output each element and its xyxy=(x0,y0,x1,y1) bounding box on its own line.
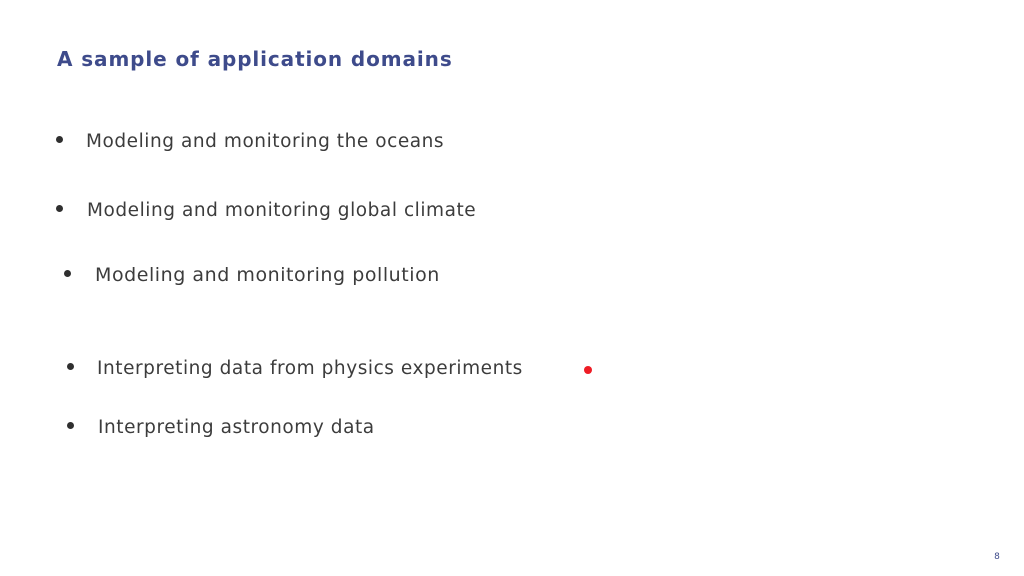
list-item-label: Modeling and monitoring the oceans xyxy=(86,131,444,152)
red-dot-marker-icon xyxy=(584,366,592,374)
bullet-dot-icon xyxy=(56,136,63,143)
page-number: 8 xyxy=(994,552,1000,562)
list-item-label: Interpreting astronomy data xyxy=(98,417,375,438)
bullet-dot-icon xyxy=(64,270,71,277)
list-item: Interpreting data from physics experimen… xyxy=(67,358,523,379)
list-item: Modeling and monitoring pollution xyxy=(64,264,440,286)
list-item-label: Modeling and monitoring global climate xyxy=(87,200,476,221)
bullet-dot-icon xyxy=(67,422,74,429)
bullet-dot-icon xyxy=(56,205,63,212)
list-item-label: Modeling and monitoring pollution xyxy=(95,264,440,286)
list-item-label: Interpreting data from physics experimen… xyxy=(97,358,523,379)
list-item: Interpreting astronomy data xyxy=(67,417,375,438)
slide-canvas: A sample of application domains Modeling… xyxy=(0,0,1024,576)
page-title: A sample of application domains xyxy=(57,47,453,71)
bullet-dot-icon xyxy=(67,363,74,370)
list-item: Modeling and monitoring the oceans xyxy=(56,131,444,152)
list-item: Modeling and monitoring global climate xyxy=(56,200,476,221)
